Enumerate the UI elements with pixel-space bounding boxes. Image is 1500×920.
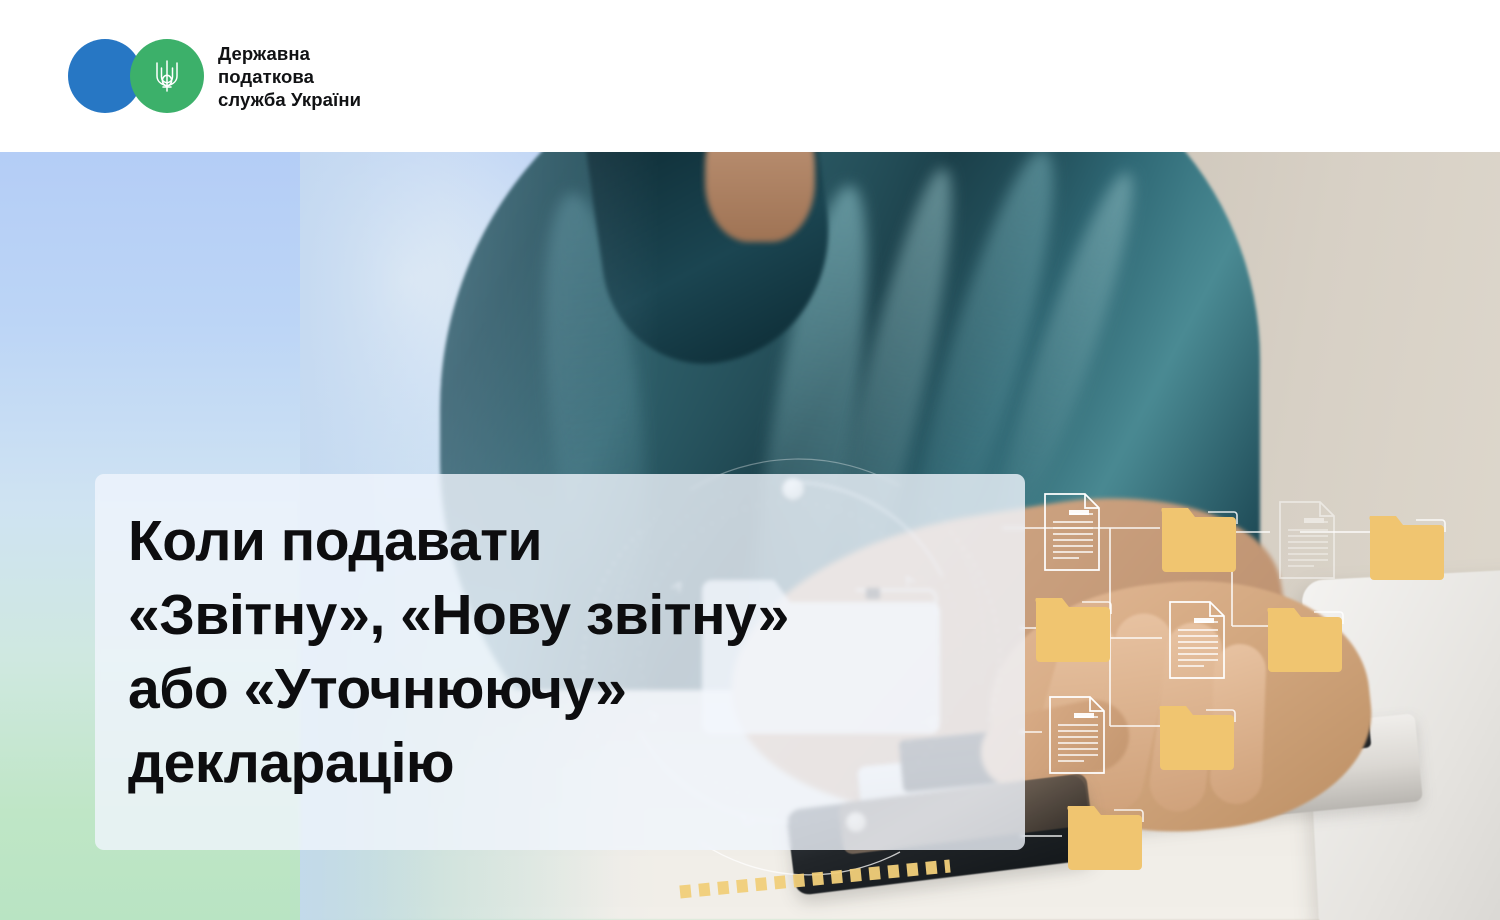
- agency-logo-text: Державна податкова служба України: [218, 42, 361, 111]
- site-header: Державна податкова служба України: [0, 0, 1500, 152]
- ukraine-trident-icon: [152, 56, 182, 96]
- logo-green-circle-icon: [130, 39, 204, 113]
- hero-section: Коли подавати «Звітну», «Нову звітну» аб…: [0, 152, 1500, 920]
- logo-marks: [68, 39, 204, 113]
- agency-logo[interactable]: Державна податкова служба України: [68, 39, 361, 113]
- page-title: Коли подавати «Звітну», «Нову звітну» аб…: [128, 504, 1028, 800]
- promo-banner: Державна податкова служба України: [0, 0, 1500, 920]
